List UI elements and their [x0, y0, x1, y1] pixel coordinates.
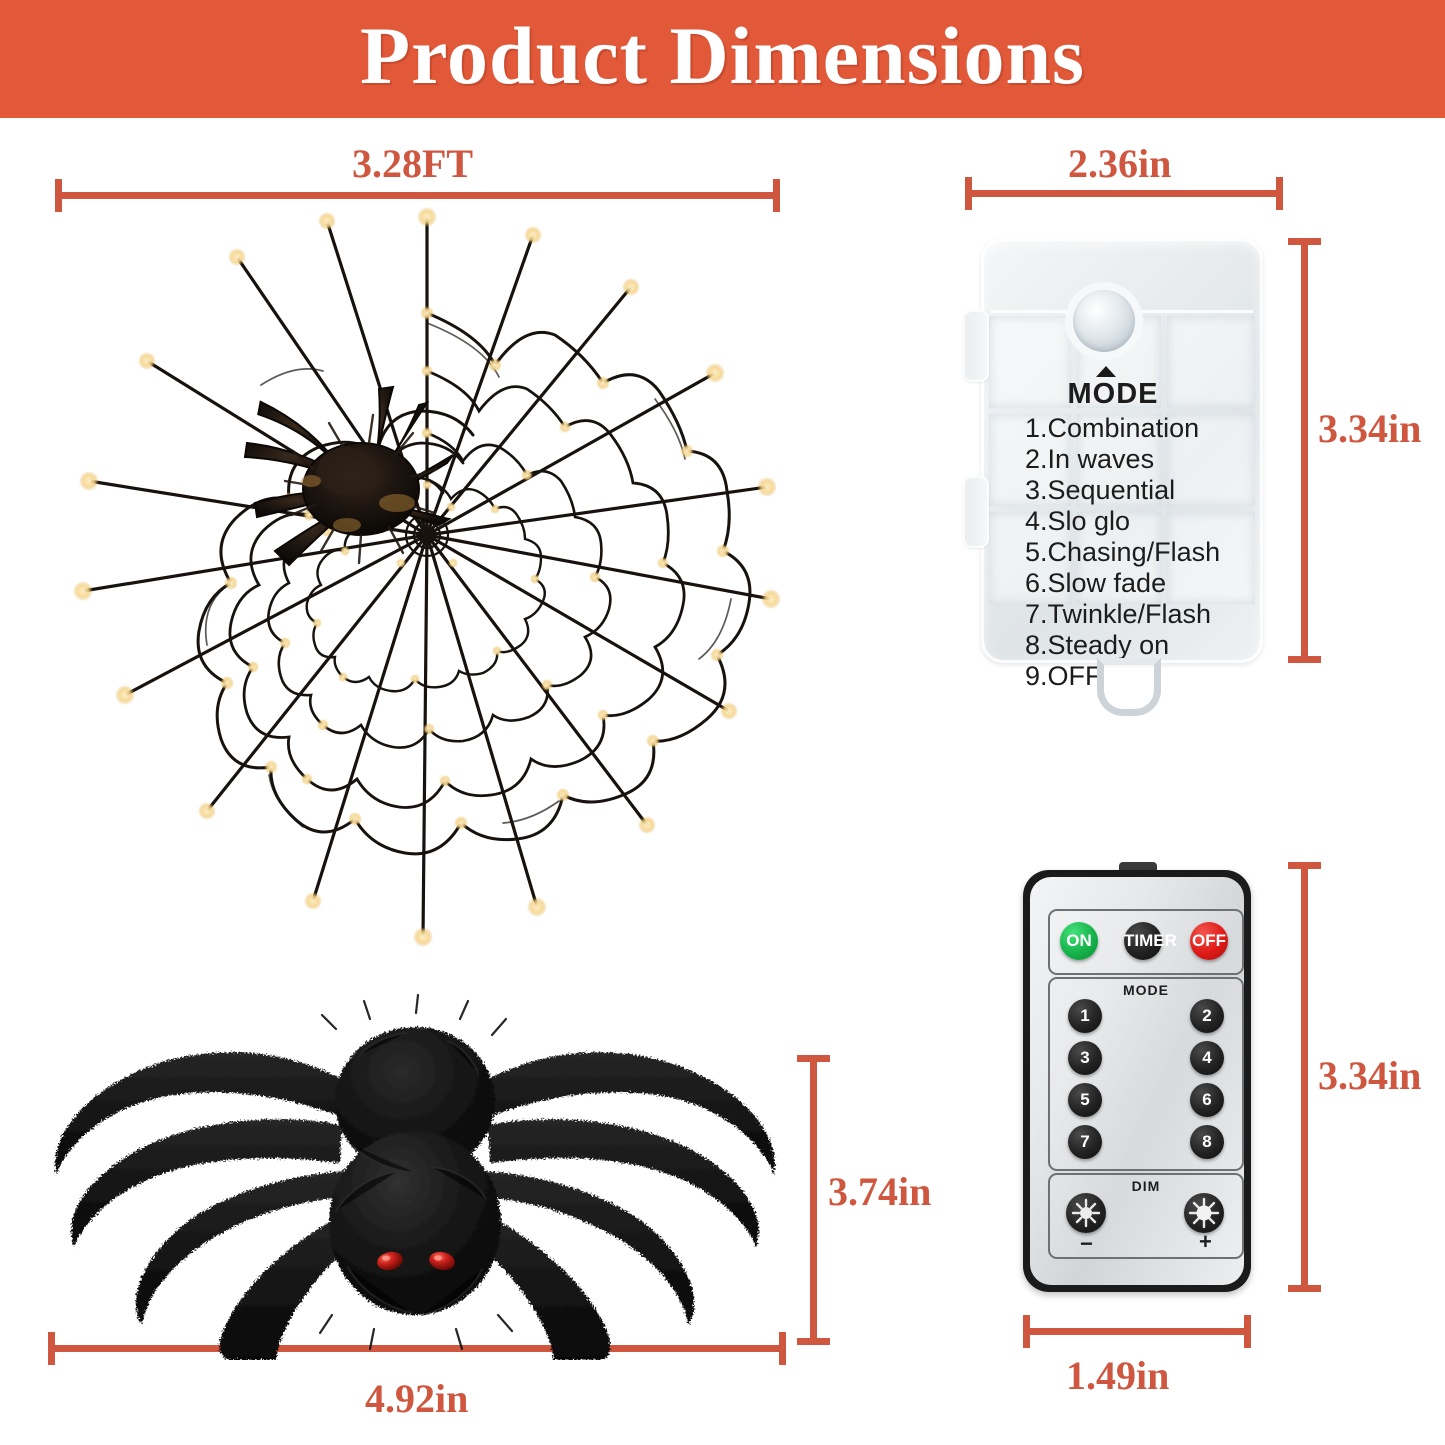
dimension-line-remote-width	[1023, 1328, 1251, 1335]
spider-web-product-image	[55, 195, 800, 950]
dimension-label-spider-width: 4.92in	[365, 1375, 468, 1422]
remote-off-button[interactable]: OFF	[1190, 922, 1228, 960]
header-banner: Product Dimensions	[0, 0, 1445, 118]
mode-item: 4.Slo glo	[1025, 506, 1220, 537]
power-button[interactable]	[1073, 290, 1135, 352]
remote-mode-label: MODE	[1050, 982, 1242, 998]
mode-item: 7.Twinkle/Flash	[1025, 599, 1220, 630]
brightness-down-icon[interactable]	[1066, 1193, 1106, 1233]
remote-mode-button-1[interactable]: 1	[1068, 999, 1102, 1033]
battery-box-product-image: MODE 1.Combination 2.In waves 3.Sequenti…	[963, 238, 1263, 663]
remote-mode-button-5[interactable]: 5	[1068, 1083, 1102, 1117]
remote-dim-group: DIM	[1048, 1173, 1244, 1259]
battery-box-side-clip	[963, 310, 989, 382]
dimension-label-spider-height: 3.74in	[828, 1168, 931, 1215]
page-title: Product Dimensions	[0, 0, 1445, 118]
remote-mode-group: MODE 1 2 3 4 5 6 7 8	[1048, 977, 1244, 1171]
remote-body: ON TIMER OFF MODE 1 2 3 4 5 6 7 8 DIM	[1023, 870, 1251, 1292]
battery-box-side-clip	[963, 476, 989, 548]
mode-item: 2.In waves	[1025, 444, 1220, 475]
mode-item: 8.Steady on	[1025, 630, 1220, 661]
remote-mode-button-2[interactable]: 2	[1190, 999, 1224, 1033]
remote-mode-button-4[interactable]: 4	[1190, 1041, 1224, 1075]
dimension-label-battery-box-height: 3.34in	[1318, 405, 1421, 452]
dimension-label-battery-box-width: 2.36in	[1068, 140, 1171, 187]
dimension-line-remote-height	[1301, 862, 1308, 1292]
battery-box-mode-heading: MODE	[963, 378, 1263, 411]
dim-minus-sign: −	[1080, 1233, 1093, 1255]
mode-item: 5.Chasing/Flash	[1025, 537, 1220, 568]
dimension-label-remote-width: 1.49in	[1066, 1352, 1169, 1399]
remote-power-group: ON TIMER OFF	[1048, 909, 1244, 975]
dimension-line-spider-height	[810, 1055, 817, 1345]
brightness-up-icon[interactable]	[1184, 1193, 1224, 1233]
remote-mode-button-7[interactable]: 7	[1068, 1125, 1102, 1159]
battery-box-mode-list: 1.Combination 2.In waves 3.Sequential 4.…	[1025, 413, 1220, 692]
remote-on-button[interactable]: ON	[1060, 922, 1098, 960]
dim-plus-sign: +	[1199, 1231, 1212, 1253]
remote-mode-button-3[interactable]: 3	[1068, 1041, 1102, 1075]
remote-face: ON TIMER OFF MODE 1 2 3 4 5 6 7 8 DIM	[1030, 877, 1244, 1285]
mode-item: 3.Sequential	[1025, 475, 1220, 506]
dimension-label-remote-height: 3.34in	[1318, 1052, 1421, 1099]
hanging-loop	[1097, 658, 1161, 716]
remote-dim-label: DIM	[1050, 1178, 1242, 1194]
plush-spider-product-image	[30, 985, 800, 1360]
remote-mode-button-6[interactable]: 6	[1190, 1083, 1224, 1117]
remote-control-product-image: ON TIMER OFF MODE 1 2 3 4 5 6 7 8 DIM	[1023, 862, 1251, 1292]
dimension-line-battery-box-height	[1301, 238, 1308, 663]
mode-item: 1.Combination	[1025, 413, 1220, 444]
mode-arrow-icon	[1096, 366, 1116, 377]
dimension-label-web-width: 3.28FT	[352, 140, 473, 187]
mode-item: 6.Slow fade	[1025, 568, 1220, 599]
remote-timer-button[interactable]: TIMER	[1124, 922, 1162, 960]
remote-mode-button-8[interactable]: 8	[1190, 1125, 1224, 1159]
dimension-line-battery-box-width	[965, 190, 1283, 197]
